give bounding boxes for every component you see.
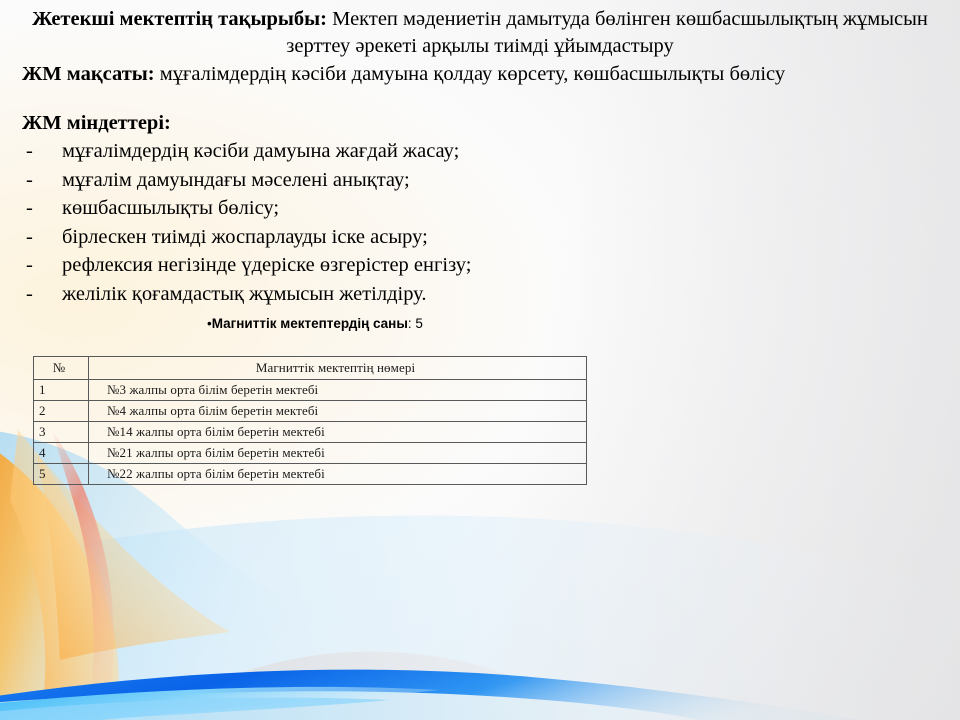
- table-row: 1 №3 жалпы орта білім беретін мектебі: [34, 380, 587, 401]
- magnet-schools-count-line: •Магниттік мектептердің саны: 5: [0, 315, 960, 333]
- schools-table-container: № Магниттік мектептің нөмері 1 №3 жалпы …: [33, 356, 587, 485]
- list-item-label: бірлескен тиімді жоспарлауды іске асыру;: [62, 226, 428, 248]
- dash-bullet-icon: -: [26, 194, 33, 223]
- list-item: - көшбасшылықты бөлісу;: [0, 194, 960, 223]
- list-item-label: желілік қоғамдастық жұмысын жетілдіру.: [62, 283, 427, 305]
- slide-heading-text: Мектеп мәдениетін дамытуда бөлінген көшб…: [286, 8, 928, 57]
- cell-row-number: 4: [34, 443, 89, 464]
- table-row: 4 №21 жалпы орта білім беретін мектебі: [34, 443, 587, 464]
- cell-school-name: №21 жалпы орта білім беретін мектебі: [89, 443, 587, 464]
- slide-canvas: Жетекші мектептің тақырыбы: Мектеп мәден…: [0, 0, 960, 720]
- cell-row-number: 3: [34, 422, 89, 443]
- list-item-label: рефлексия негізінде үдеріске өзгерістер …: [62, 254, 471, 276]
- magnet-schools-count-value: 5: [415, 316, 423, 331]
- dash-bullet-icon: -: [26, 251, 33, 280]
- table-header-row: № Магниттік мектептің нөмері: [34, 357, 587, 380]
- slide-heading: Жетекші мектептің тақырыбы: Мектеп мәден…: [0, 0, 960, 60]
- tasks-list: - мұғалімдердің кәсіби дамуына жағдай жа…: [0, 137, 960, 308]
- list-item-label: мұғалімдердің кәсіби дамуына жағдай жаса…: [62, 140, 459, 162]
- dash-bullet-icon: -: [26, 223, 33, 252]
- tasks-title: ЖМ міндеттері:: [0, 110, 960, 137]
- cell-row-number: 1: [34, 380, 89, 401]
- cell-school-name: №14 жалпы орта білім беретін мектебі: [89, 422, 587, 443]
- schools-table: № Магниттік мектептің нөмері 1 №3 жалпы …: [33, 356, 587, 485]
- cell-school-name: №4 жалпы орта білім беретін мектебі: [89, 401, 587, 422]
- slide-content: Жетекші мектептің тақырыбы: Мектеп мәден…: [0, 0, 960, 333]
- column-header-number: №: [34, 357, 89, 380]
- table-row: 5 №22 жалпы орта білім беретін мектебі: [34, 464, 587, 485]
- cell-school-name: №3 жалпы орта білім беретін мектебі: [89, 380, 587, 401]
- dash-bullet-icon: -: [26, 166, 33, 195]
- table-row: 3 №14 жалпы орта білім беретін мектебі: [34, 422, 587, 443]
- magnet-schools-count-label: Магниттік мектептердің саны: [212, 316, 408, 331]
- list-item: - бірлескен тиімді жоспарлауды іске асыр…: [0, 223, 960, 252]
- list-item-label: мұғалім дамуындағы мәселені анықтау;: [62, 169, 410, 191]
- cell-row-number: 5: [34, 464, 89, 485]
- list-item: - рефлексия негізінде үдеріске өзгерісте…: [0, 251, 960, 280]
- cell-school-name: №22 жалпы орта білім беретін мектебі: [89, 464, 587, 485]
- goal-text: мұғалімдердің кәсіби дамуына қолдау көрс…: [155, 63, 786, 85]
- list-item-label: көшбасшылықты бөлісу;: [62, 197, 279, 219]
- goal-label: ЖМ мақсаты:: [22, 63, 155, 85]
- list-item: - мұғалім дамуындағы мәселені анықтау;: [0, 166, 960, 195]
- goal-line: ЖМ мақсаты: мұғалімдердің кәсіби дамуына…: [0, 61, 960, 88]
- cell-row-number: 2: [34, 401, 89, 422]
- table-row: 2 №4 жалпы орта білім беретін мектебі: [34, 401, 587, 422]
- dash-bullet-icon: -: [26, 137, 33, 166]
- list-item: - желілік қоғамдастық жұмысын жетілдіру.: [0, 280, 960, 309]
- slide-heading-label: Жетекші мектептің тақырыбы:: [32, 8, 327, 30]
- column-header-school-name: Магниттік мектептің нөмері: [89, 357, 587, 380]
- dash-bullet-icon: -: [26, 280, 33, 309]
- list-item: - мұғалімдердің кәсіби дамуына жағдай жа…: [0, 137, 960, 166]
